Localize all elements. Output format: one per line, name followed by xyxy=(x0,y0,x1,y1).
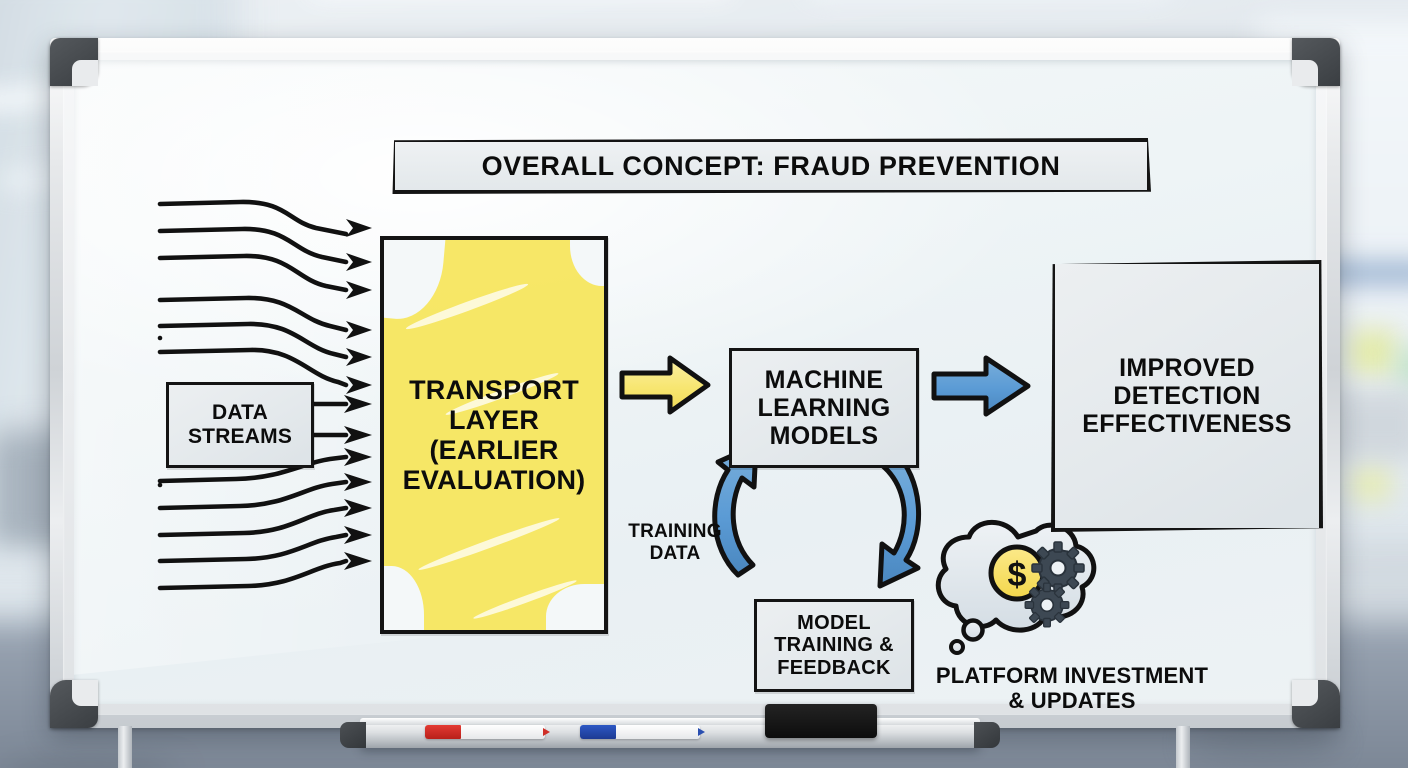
background-sticky-note xyxy=(1352,465,1390,501)
background-sticky-note xyxy=(1350,330,1396,374)
marker-cap xyxy=(580,725,616,739)
marker-blue[interactable] xyxy=(580,725,700,739)
node-label: DATA STREAMS xyxy=(188,401,292,448)
marker-tip xyxy=(698,728,705,736)
gear-icon xyxy=(1025,583,1069,627)
background-furniture xyxy=(1328,390,1408,460)
tray-end-cap xyxy=(340,722,366,748)
node-data-streams[interactable]: DATA STREAMS xyxy=(166,382,314,468)
node-label-line: IMPROVED xyxy=(1082,354,1292,382)
node-label-line: TRANSPORT xyxy=(397,375,592,405)
node-label-line: EFFECTIVENESS xyxy=(1082,410,1292,438)
label-platform-investment: PLATFORM INVESTMENT & UPDATES xyxy=(922,663,1222,713)
whiteboard: $ xyxy=(50,38,1340,728)
node-label: IMPROVED DETECTION EFFECTIVENESS xyxy=(1082,354,1292,438)
node-label-line: EVALUATION) xyxy=(397,465,592,495)
datastreams-arrowheads xyxy=(344,395,372,444)
label-line: TRAINING xyxy=(616,521,734,543)
node-label-line: FEEDBACK xyxy=(774,657,894,679)
label-training-data: TRAINING DATA xyxy=(616,521,734,564)
node-label-line: MACHINE xyxy=(758,366,891,394)
thought-bubble-icon: $ xyxy=(938,522,1094,653)
node-model-training-feedback[interactable]: MODEL TRAINING & FEEDBACK xyxy=(754,599,914,692)
node-label-line: LAYER xyxy=(397,405,592,435)
tray-end-cap xyxy=(974,722,1000,748)
node-label-line: TRAINING & xyxy=(774,634,894,656)
node-label-line: (EARLIER xyxy=(397,435,592,465)
marker-cap xyxy=(425,725,461,739)
tray-lip xyxy=(360,718,980,725)
marker-tip xyxy=(543,728,550,736)
node-label-line: STREAMS xyxy=(188,425,292,449)
gear-icon xyxy=(1032,542,1084,594)
stream-arrowheads-bottom xyxy=(344,448,372,570)
thought-bubble-dot xyxy=(964,621,983,640)
whiteboard-stand-leg xyxy=(1176,726,1190,768)
thought-bubble-dot xyxy=(951,641,963,653)
stream-arrowheads-top xyxy=(346,219,372,394)
whiteboard-stand-leg xyxy=(118,726,132,768)
diagram-canvas: $ xyxy=(50,38,1340,728)
label-line: & UPDATES xyxy=(922,688,1222,713)
node-label: MODEL TRAINING & FEEDBACK xyxy=(774,612,894,679)
node-machine-learning-models[interactable]: MACHINE LEARNING MODELS xyxy=(729,348,919,468)
node-label: TRANSPORT LAYER (EARLIER EVALUATION) xyxy=(391,375,598,496)
floor-shadow xyxy=(1188,728,1338,758)
node-label-line: LEARNING xyxy=(758,394,891,422)
node-label: MACHINE LEARNING MODELS xyxy=(758,366,891,450)
marker-red[interactable] xyxy=(425,725,545,739)
node-label-line: DETECTION xyxy=(1082,382,1292,410)
diagram-title-banner: OVERALL CONCEPT: FRAUD PREVENTION xyxy=(391,138,1151,194)
marker-tray xyxy=(360,722,980,748)
background-sticky-note xyxy=(1398,348,1408,388)
page-title: OVERALL CONCEPT: FRAUD PREVENTION xyxy=(482,151,1061,181)
node-improved-detection-effectiveness[interactable]: IMPROVED DETECTION EFFECTIVENESS xyxy=(1051,260,1323,532)
stream-arrow-group-top xyxy=(160,202,346,385)
node-label-line: DATA xyxy=(188,401,292,425)
eraser-black[interactable] xyxy=(765,704,877,738)
svg-text:$: $ xyxy=(1008,556,1027,594)
label-line: DATA xyxy=(616,543,734,565)
arrow-ml-to-detection xyxy=(934,358,1028,414)
node-label-line: MODEL xyxy=(774,612,894,634)
label-line: PLATFORM INVESTMENT xyxy=(922,663,1222,688)
node-label-line: MODELS xyxy=(758,422,891,450)
arrow-feedback-down xyxy=(880,452,919,586)
arrow-transport-to-ml xyxy=(622,358,708,412)
node-transport-layer[interactable]: TRANSPORT LAYER (EARLIER EVALUATION) xyxy=(380,236,608,634)
